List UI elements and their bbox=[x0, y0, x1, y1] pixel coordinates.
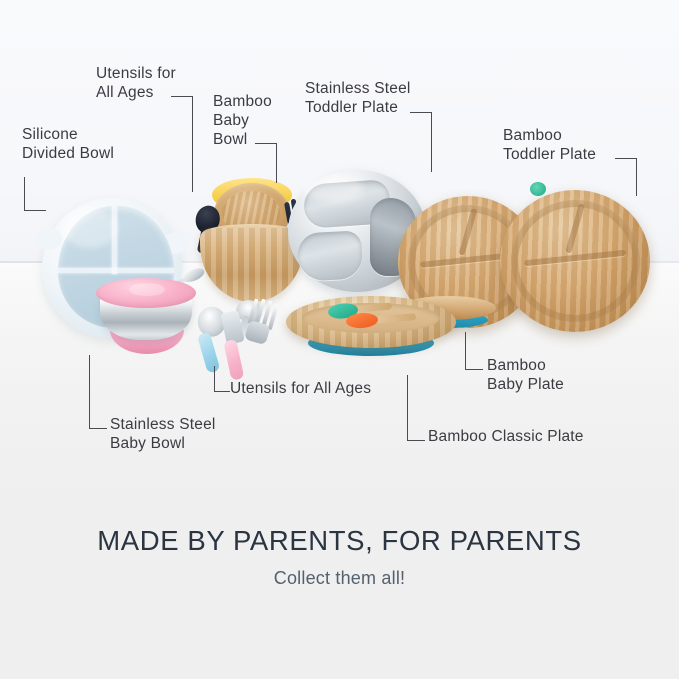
label-stainless-steel-baby-bowl: Stainless Steel Baby Bowl bbox=[110, 415, 216, 453]
utensil-steel-fork-base bbox=[244, 320, 271, 345]
product-stainless-steel-baby-bowl bbox=[94, 278, 200, 362]
stainless-baby-bowl-pink-lid bbox=[96, 278, 196, 308]
label-bamboo-classic-plate: Bamboo Classic Plate bbox=[428, 427, 584, 446]
product-infographic: Silicone Divided Bowl Utensils for All A… bbox=[0, 0, 679, 679]
label-stainless-steel-toddler-plate: Stainless Steel Toddler Plate bbox=[305, 79, 411, 117]
label-utensils-for-all-ages-top: Utensils for All Ages bbox=[96, 64, 176, 102]
headline-title: MADE BY PARENTS, FOR PARENTS bbox=[0, 525, 679, 557]
label-silicone-divided-bowl: Silicone Divided Bowl bbox=[22, 125, 114, 163]
silicone-bowl-divider-horizontal bbox=[58, 268, 174, 273]
silicone-bowl-highlight bbox=[62, 208, 118, 248]
silicone-bowl-left-tab bbox=[36, 228, 62, 250]
bamboo-toddler-plate-front-body bbox=[500, 190, 650, 332]
stainless-toddler-plate-compartment-bottom-left bbox=[297, 230, 363, 281]
stainless-toddler-plate-highlight bbox=[302, 176, 364, 202]
headline-subtitle: Collect them all! bbox=[0, 568, 679, 589]
product-bamboo-classic-plate bbox=[286, 296, 456, 362]
label-bamboo-toddler-plate: Bamboo Toddler Plate bbox=[503, 126, 596, 164]
orange-bamboo-spoon-head bbox=[346, 312, 379, 329]
stainless-baby-bowl-lid-highlight bbox=[129, 283, 165, 296]
label-bamboo-baby-plate: Bamboo Baby Plate bbox=[487, 356, 564, 394]
label-bamboo-baby-bowl: Bamboo Baby Bowl bbox=[213, 92, 272, 149]
green-suction-base-peek bbox=[530, 182, 546, 196]
label-utensils-for-all-ages-bottom: Utensils for All Ages bbox=[230, 379, 371, 398]
product-bamboo-toddler-plate-front bbox=[500, 190, 650, 332]
product-utensils-for-all-ages bbox=[190, 300, 294, 362]
